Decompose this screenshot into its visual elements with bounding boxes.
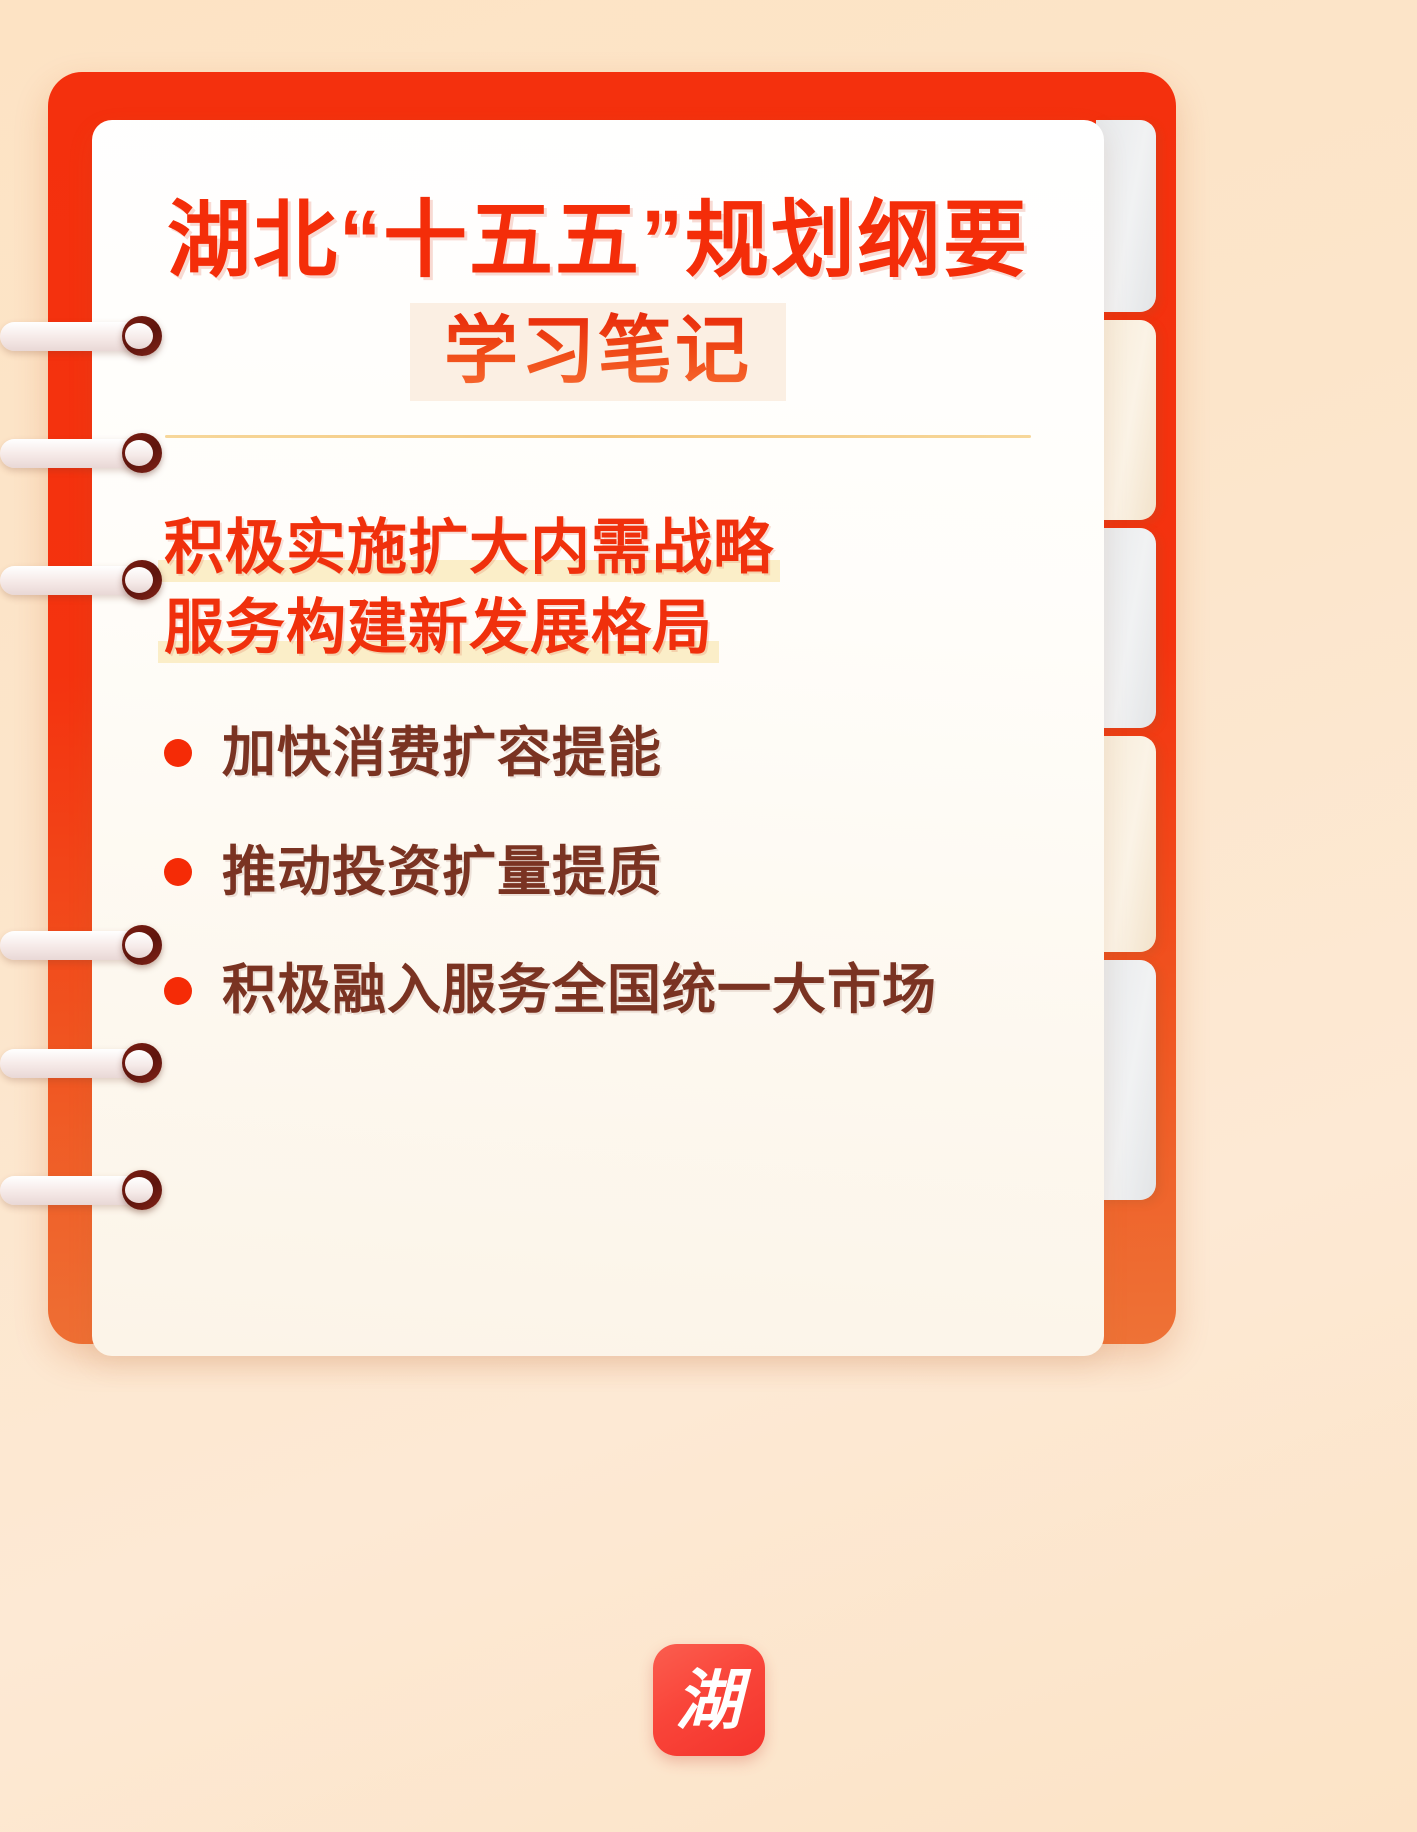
index-tab-3[interactable] <box>1096 528 1156 728</box>
index-tab-2[interactable] <box>1096 320 1156 520</box>
index-tab-1[interactable] <box>1096 120 1156 312</box>
index-tab-4[interactable] <box>1096 736 1156 952</box>
bullet-list: 加快消费扩容提能 推动投资扩量提质 积极融入服务全国统一大市场 <box>164 721 1104 1023</box>
page-subtitle-text: 学习笔记 <box>444 309 752 392</box>
binder-ring-3 <box>0 560 180 600</box>
hubei-logo-glyph: 湖 <box>676 1667 742 1733</box>
binder-ring-hoop-icon <box>122 560 162 600</box>
section-heading-line-1: 积极实施扩大内需战略 <box>158 508 780 588</box>
note-page: 湖北“十五五”规划纲要 学习笔记 积极实施扩大内需战略 服务构建新发展格局 加快… <box>92 120 1104 1356</box>
list-item: 积极融入服务全国统一大市场 <box>164 958 1104 1023</box>
binder-ring-hoop-icon <box>122 1043 162 1083</box>
binder-ring-4 <box>0 925 180 965</box>
bullet-dot-icon <box>164 858 192 886</box>
notebook-red-frame: 湖北“十五五”规划纲要 学习笔记 积极实施扩大内需战略 服务构建新发展格局 加快… <box>48 72 1176 1344</box>
subtitle-wrap: 学习笔记 <box>92 303 1104 401</box>
page-subtitle: 学习笔记 <box>410 303 786 401</box>
bullet-dot-icon <box>164 977 192 1005</box>
binder-ring-2 <box>0 433 180 473</box>
section-heading-line-2: 服务构建新发展格局 <box>158 588 719 668</box>
binder-ring-1 <box>0 316 180 356</box>
divider-line <box>165 435 1031 438</box>
title-block: 湖北“十五五”规划纲要 学习笔记 <box>92 196 1104 401</box>
bullet-text-3: 积极融入服务全国统一大市场 <box>222 958 937 1023</box>
binder-ring-6 <box>0 1170 180 1210</box>
section-heading: 积极实施扩大内需战略 服务构建新发展格局 <box>158 508 1104 669</box>
list-item: 推动投资扩量提质 <box>164 840 1104 905</box>
index-tab-5[interactable] <box>1096 960 1156 1200</box>
page-title: 湖北“十五五”规划纲要 <box>92 196 1104 285</box>
bullet-text-2: 推动投资扩量提质 <box>222 840 662 905</box>
binder-ring-hoop-icon <box>122 1170 162 1210</box>
binder-ring-hoop-icon <box>122 433 162 473</box>
list-item: 加快消费扩容提能 <box>164 721 1104 786</box>
hubei-logo[interactable]: 湖 <box>653 1644 765 1756</box>
binder-ring-hoop-icon <box>122 316 162 356</box>
footer-logo-wrap: 湖 <box>0 1644 1417 1756</box>
bullet-text-1: 加快消费扩容提能 <box>222 721 662 786</box>
binder-ring-hoop-icon <box>122 925 162 965</box>
bullet-dot-icon <box>164 739 192 767</box>
binder-ring-5 <box>0 1043 180 1083</box>
